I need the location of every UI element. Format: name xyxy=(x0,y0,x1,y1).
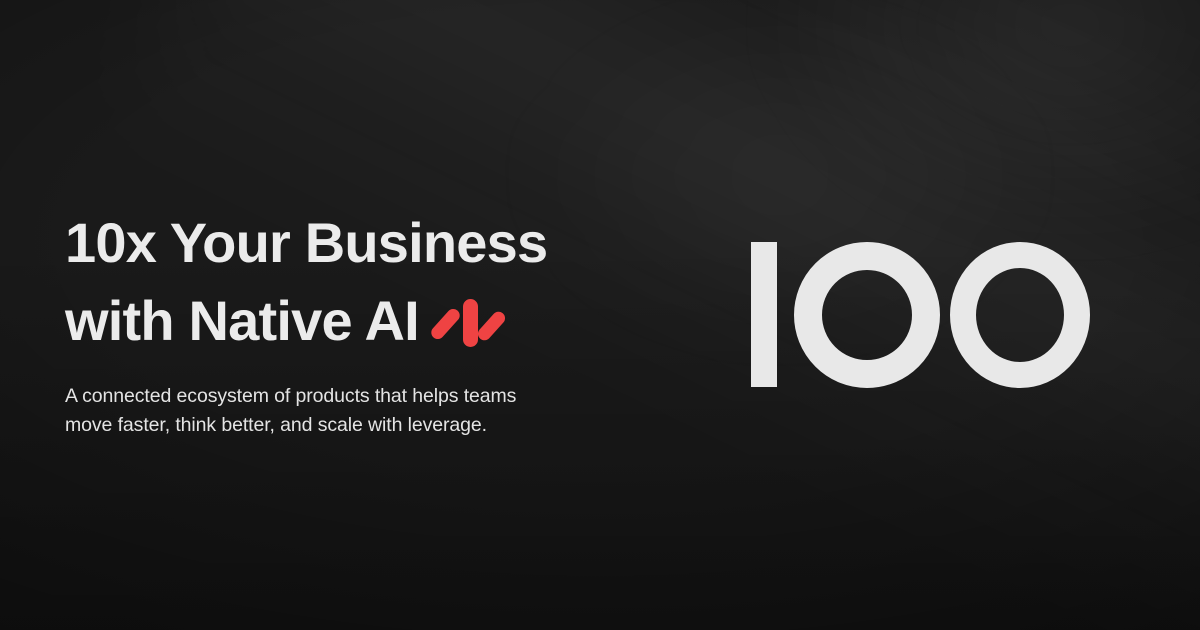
hero-subtitle: A connected ecosystem of products that h… xyxy=(65,382,675,440)
logo-glyph-x xyxy=(950,242,1090,388)
hero-headline-line-2: with Native AI xyxy=(65,282,419,360)
hero-headline: 10x Your Business with Native AI xyxy=(65,204,675,360)
accent-bar-center xyxy=(463,299,478,347)
hero-copy: 10x Your Business with Native AI A conne… xyxy=(65,204,675,440)
logo-glyph-one xyxy=(751,242,777,387)
hero-headline-line-1: 10x Your Business xyxy=(65,204,675,282)
sound-wave-accent-icon xyxy=(433,297,507,345)
hero-headline-line-2-row: with Native AI xyxy=(65,282,675,360)
hero-banner: 10x Your Business with Native AI A conne… xyxy=(0,0,1200,630)
logo-glyph-x-arc-top xyxy=(950,242,1090,315)
hero-subtitle-line-2: move faster, think better, and scale wit… xyxy=(65,411,675,440)
hero-subtitle-line-1: A connected ecosystem of products that h… xyxy=(65,382,675,411)
accent-bar-left xyxy=(429,306,463,341)
10x-logo xyxy=(751,242,1091,388)
logo-glyph-x-arc-top-stroke xyxy=(950,242,1090,315)
logo-glyph-zero xyxy=(794,242,940,388)
logo-glyph-x-arc-bottom-stroke xyxy=(950,315,1090,388)
accent-bar-right xyxy=(475,309,507,343)
logo-glyph-x-arc-bottom xyxy=(950,315,1090,388)
